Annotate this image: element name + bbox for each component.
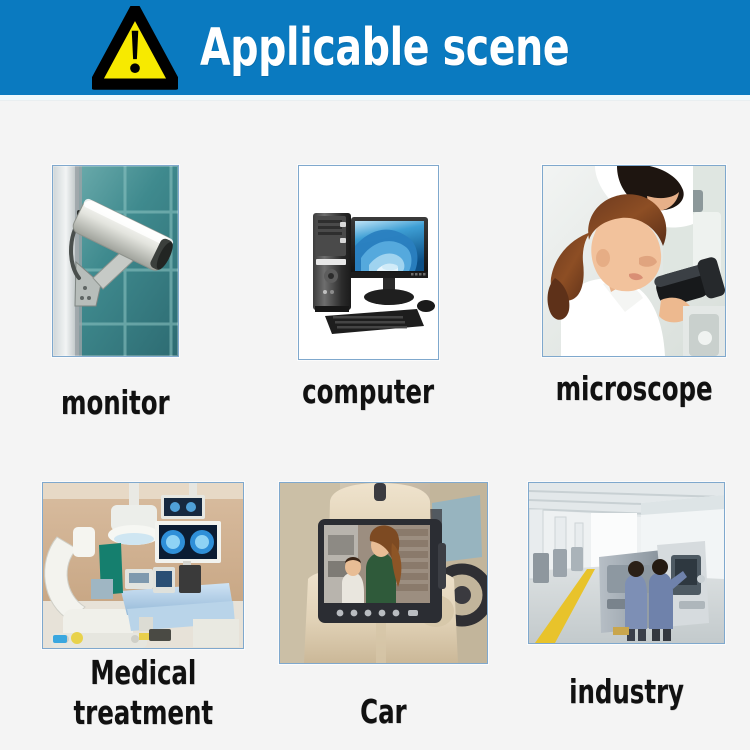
industry-thumbnail[interactable]	[528, 482, 725, 644]
factory-floor-image	[529, 483, 724, 643]
scene-label-microscope: microscope	[556, 369, 713, 409]
scene-item-industry[interactable]: industry	[528, 482, 725, 712]
header-banner: Applicable scene	[0, 0, 750, 95]
scene-grid: monitor	[0, 101, 750, 750]
microscope-lab-image	[543, 166, 725, 356]
car-thumbnail[interactable]	[279, 482, 488, 664]
cctv-camera-image	[53, 166, 178, 356]
scene-label-car: Car	[360, 692, 406, 732]
scene-label-computer: computer	[302, 372, 434, 412]
operating-room-image	[43, 483, 243, 648]
scene-item-monitor[interactable]: monitor	[42, 165, 189, 423]
page-title: Applicable scene	[200, 20, 569, 76]
scene-item-computer[interactable]: computer	[279, 165, 457, 412]
car-headrest-monitor-image	[280, 483, 487, 663]
warning-triangle-icon	[92, 6, 178, 90]
scene-label-industry: industry	[569, 672, 684, 712]
applicable-scene-page: Applicable scene	[0, 0, 750, 750]
header-content: Applicable scene	[92, 6, 686, 90]
scene-item-car[interactable]: Car	[279, 482, 488, 732]
scene-label-monitor: monitor	[61, 383, 169, 423]
desktop-computer-image	[299, 166, 438, 359]
medical-thumbnail[interactable]	[42, 482, 244, 649]
scene-label-medical: Medical treatment	[73, 653, 213, 733]
computer-thumbnail[interactable]	[298, 165, 439, 360]
microscope-thumbnail[interactable]	[542, 165, 726, 357]
scene-item-microscope[interactable]: microscope	[528, 165, 740, 409]
scene-item-medical[interactable]: Medical treatment	[42, 482, 244, 733]
monitor-thumbnail[interactable]	[52, 165, 179, 357]
